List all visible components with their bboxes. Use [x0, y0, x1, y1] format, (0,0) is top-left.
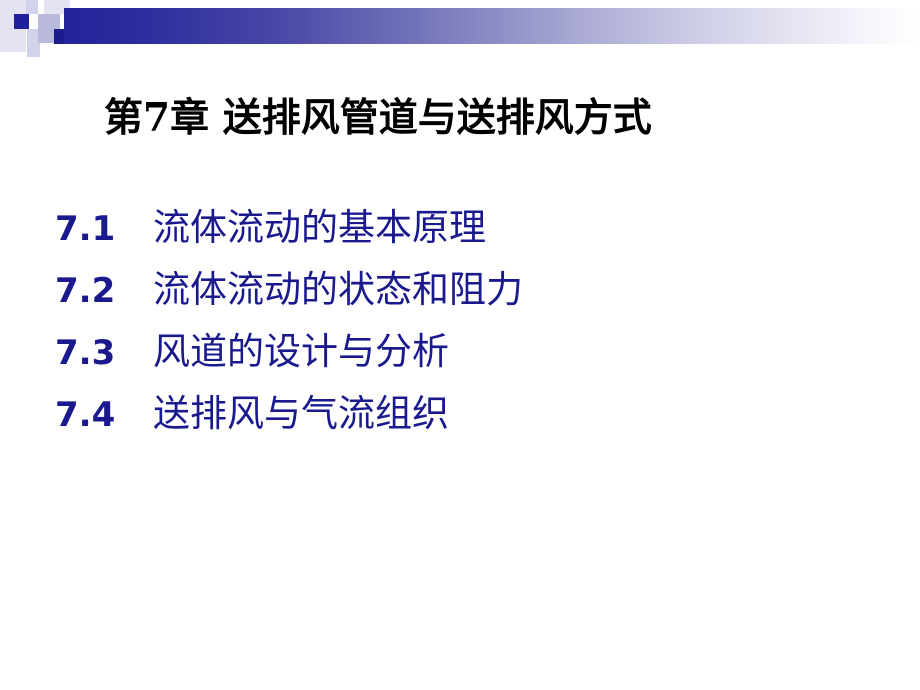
header-decoration — [0, 0, 920, 60]
outline-item-number: 7.3 — [55, 331, 153, 375]
decoration-block-top-pale — [44, 0, 60, 14]
header-gradient-bar — [64, 8, 920, 44]
outline-item-number: 7.4 — [55, 393, 153, 437]
outline-item-label: 风道的设计与分析 — [153, 330, 449, 374]
presentation-slide: 第7章 送排风管道与送排风方式 7.1 流体流动的基本原理 7.2 流体流动的状… — [0, 0, 920, 690]
outline-item[interactable]: 7.2 流体流动的状态和阻力 — [55, 268, 855, 330]
decoration-block-mid-d — [27, 43, 40, 57]
decoration-block-mid-c — [38, 29, 54, 43]
slide-title: 第7章 送排风管道与送排风方式 — [104, 93, 864, 143]
outline-item[interactable]: 7.1 流体流动的基本原理 — [55, 206, 855, 268]
outline-item-label: 送排风与气流组织 — [153, 392, 449, 436]
decoration-block-light-a — [26, 0, 38, 14]
decoration-block-mid-b — [27, 29, 38, 43]
decoration-block-mid-a — [38, 14, 60, 29]
decoration-block-navy-small — [14, 14, 29, 29]
outline-item-number: 7.2 — [55, 269, 153, 313]
outline-item-label: 流体流动的基本原理 — [153, 206, 486, 250]
outline-item[interactable]: 7.4 送排风与气流组织 — [55, 392, 855, 454]
outline-item-label: 流体流动的状态和阻力 — [153, 268, 523, 312]
outline-item-number: 7.1 — [55, 207, 153, 251]
outline-list: 7.1 流体流动的基本原理 7.2 流体流动的状态和阻力 7.3 风道的设计与分… — [55, 206, 855, 454]
outline-item[interactable]: 7.3 风道的设计与分析 — [55, 330, 855, 392]
